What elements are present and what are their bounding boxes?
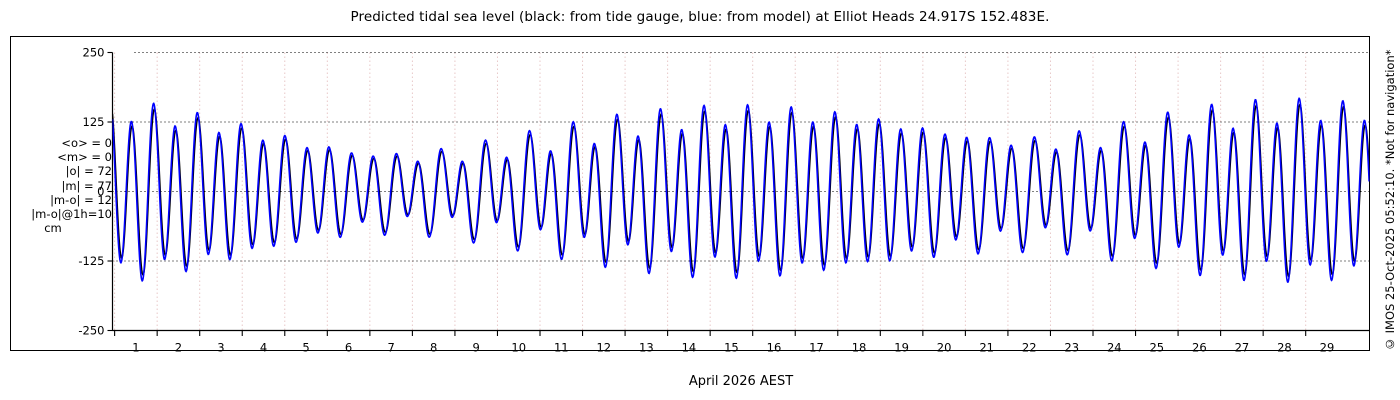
svg-text:4: 4	[260, 341, 267, 355]
svg-text:20: 20	[937, 341, 952, 355]
svg-text:2: 2	[175, 341, 182, 355]
svg-text:-125: -125	[78, 254, 104, 268]
svg-text:29: 29	[1320, 341, 1335, 355]
copyright-notice: © IMOS 25-Oct-2025 05:52:10. *Not for na…	[1381, 0, 1399, 400]
svg-text:7: 7	[387, 341, 394, 355]
svg-text:15: 15	[724, 341, 739, 355]
svg-text:0: 0	[97, 185, 104, 199]
svg-text:9: 9	[473, 341, 480, 355]
svg-text:10: 10	[511, 341, 526, 355]
svg-text:6: 6	[345, 341, 352, 355]
svg-text:8: 8	[430, 341, 437, 355]
svg-text:28: 28	[1277, 341, 1292, 355]
x-axis: 1234567891011121314151617181920212223242…	[113, 331, 1370, 355]
svg-text:1: 1	[132, 341, 139, 355]
svg-text:26: 26	[1192, 341, 1207, 355]
svg-text:11: 11	[554, 341, 569, 355]
svg-text:18: 18	[852, 341, 867, 355]
svg-text:16: 16	[767, 341, 782, 355]
svg-text:25: 25	[1149, 341, 1164, 355]
svg-text:17: 17	[809, 341, 824, 355]
svg-text:3: 3	[217, 341, 224, 355]
series-tide-gauge	[113, 105, 1370, 277]
svg-text:13: 13	[639, 341, 654, 355]
svg-text:23: 23	[1064, 341, 1079, 355]
svg-text:27: 27	[1235, 341, 1250, 355]
tidal-chart-figure: Predicted tidal sea level (black: from t…	[0, 0, 1400, 400]
y-axis: 2501250-125-250	[78, 46, 112, 338]
series-model	[113, 98, 1370, 282]
svg-text:12: 12	[596, 341, 611, 355]
svg-text:14: 14	[682, 341, 697, 355]
svg-text:250: 250	[83, 46, 105, 60]
plot-canvas: 2501250-125-250 123456789101112131415161…	[0, 0, 1400, 400]
svg-text:5: 5	[302, 341, 309, 355]
svg-text:24: 24	[1107, 341, 1122, 355]
svg-text:-250: -250	[78, 324, 104, 338]
svg-text:22: 22	[1022, 341, 1037, 355]
x-axis-title: April 2026 AEST	[112, 374, 1370, 389]
svg-text:21: 21	[979, 341, 994, 355]
svg-text:125: 125	[83, 115, 105, 129]
svg-text:19: 19	[894, 341, 909, 355]
